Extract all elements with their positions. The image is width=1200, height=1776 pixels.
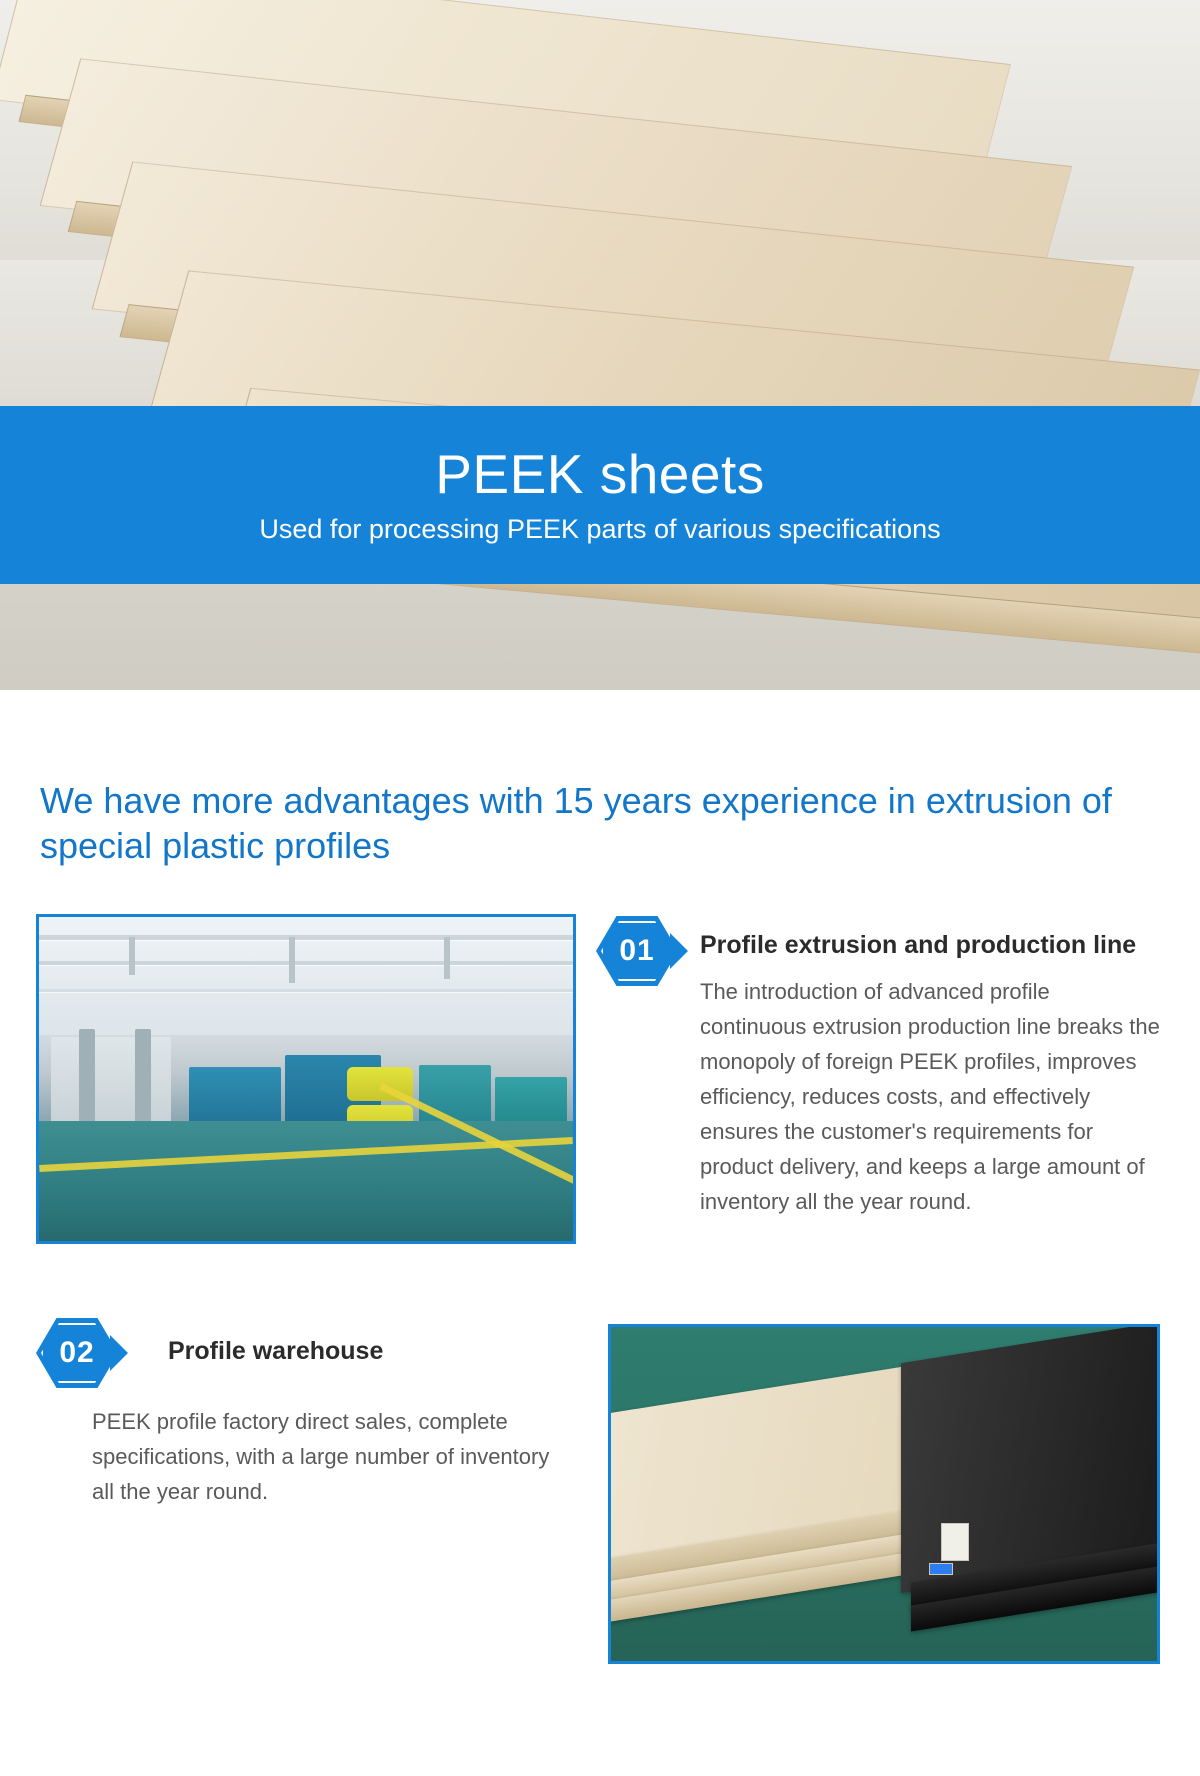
advantages-blocks: 01 Profile extrusion and production line… xyxy=(0,914,1200,1694)
sheet-label xyxy=(941,1523,969,1561)
profile-warehouse-photo xyxy=(608,1324,1160,1664)
advantage-item-01: 01 Profile extrusion and production line… xyxy=(596,916,1168,1219)
factory-scene xyxy=(39,917,573,1241)
ceiling-beam xyxy=(39,989,573,992)
ceiling-lamp xyxy=(129,937,135,975)
warehouse-scene xyxy=(611,1327,1157,1661)
extrusion-production-line-photo xyxy=(36,914,576,1244)
advantage-title-02: Profile warehouse xyxy=(168,1334,568,1368)
step-number: 02 xyxy=(59,1336,94,1370)
factory-ceiling xyxy=(39,917,573,1035)
background-machine xyxy=(51,1037,171,1132)
hero-banner: PEEK sheets Used for processing PEEK par… xyxy=(0,406,1200,584)
hero-section: PEEK sheets Used for processing PEEK par… xyxy=(0,0,1200,690)
advantages-headline: We have more advantages with 15 years ex… xyxy=(0,690,1200,868)
hero-title: PEEK sheets xyxy=(435,447,765,502)
advantage-body-02: PEEK profile factory direct sales, compl… xyxy=(92,1404,562,1509)
advantage-title-01: Profile extrusion and production line xyxy=(700,928,1160,962)
ceiling-beam xyxy=(39,935,573,940)
step-number-badge-01: 01 xyxy=(596,916,678,986)
advantage-body-01: The introduction of advanced profile con… xyxy=(700,974,1162,1219)
hexagon-pointer xyxy=(110,1335,128,1371)
hexagon-pointer xyxy=(670,933,688,969)
factory-floor xyxy=(39,1121,573,1241)
peek-sheets-stack-photo xyxy=(0,0,1200,690)
ceiling-beam xyxy=(39,961,573,965)
ceiling-lamp xyxy=(289,937,295,983)
sheet-label-blue xyxy=(929,1563,953,1575)
step-number: 01 xyxy=(619,934,654,968)
step-number-badge-02: 02 xyxy=(36,1318,118,1388)
advantages-section: We have more advantages with 15 years ex… xyxy=(0,690,1200,1694)
ceiling-lamp xyxy=(444,937,450,979)
advantage-item-02: 02 Profile warehouse PEEK profile factor… xyxy=(36,1318,581,1509)
hero-subtitle: Used for processing PEEK parts of variou… xyxy=(259,516,940,543)
